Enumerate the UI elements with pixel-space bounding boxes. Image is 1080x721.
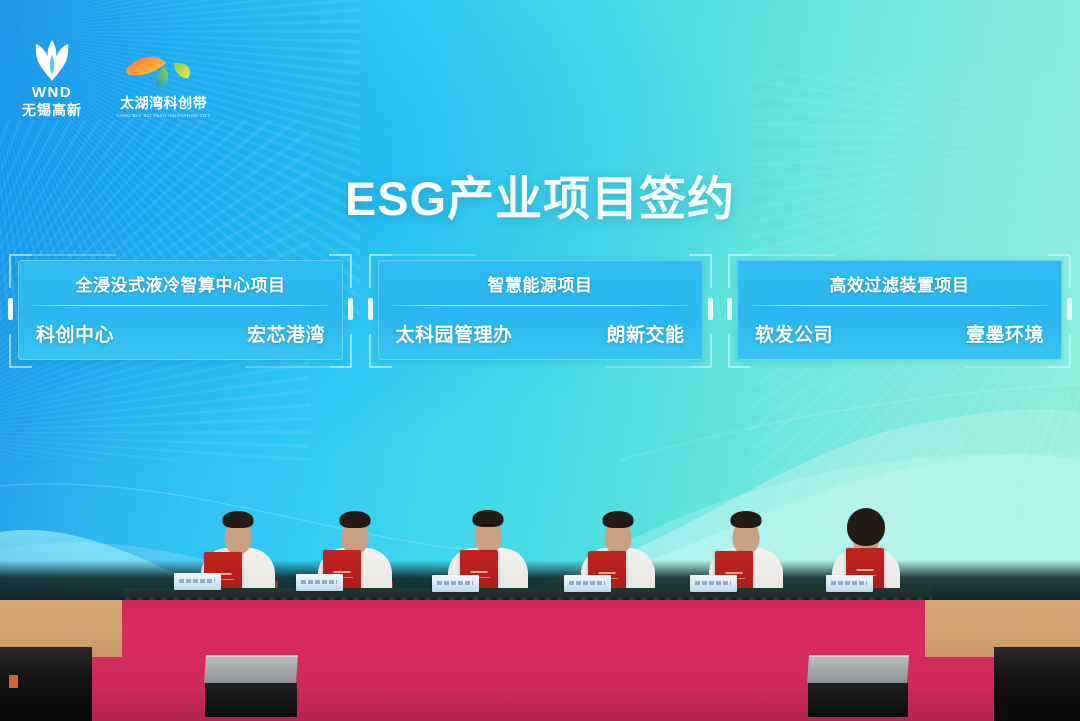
panel-3-parties: 软发公司 壹墨环境	[737, 306, 1062, 360]
stage-monitor-right	[808, 655, 908, 717]
panel-1-party-left: 科创中心	[36, 320, 114, 347]
name-placard-1	[174, 573, 221, 590]
panel-2-party-left: 太科园管理办	[396, 320, 513, 347]
name-placard-3	[432, 575, 479, 592]
panel-2-parties: 太科园管理办 朗新交能	[378, 306, 703, 360]
signing-ceremony-photo: WND 无锡高新	[0, 0, 1080, 721]
name-placard-5	[690, 575, 737, 592]
side-speaker-left	[0, 647, 92, 721]
panel-1-card: 全浸没式液冷智算中心项目 科创中心 宏芯港湾	[18, 260, 343, 360]
panel-1-party-right: 宏芯港湾	[247, 320, 325, 347]
event-title: ESG产业项目签约	[0, 160, 1080, 229]
panel-2-party-right: 朗新交能	[606, 320, 684, 347]
panel-1-title: 全浸没式液冷智算中心项目	[18, 260, 343, 296]
table-top	[122, 588, 932, 597]
panel-2-card: 智慧能源项目 太科园管理办 朗新交能	[378, 260, 703, 360]
logo-secondary-english: TAIHU BAY SCI-TECH INNOVATION CITY	[116, 113, 210, 118]
signing-panel-3: 高效过滤装置项目 软发公司 壹墨环境	[725, 252, 1074, 370]
speaker-grille	[807, 655, 909, 683]
speaker-grille	[204, 655, 298, 683]
hair-short	[223, 511, 254, 528]
name-placard-6	[826, 575, 873, 592]
hair-short	[731, 511, 762, 528]
name-placard-2	[296, 574, 343, 591]
logo-taihu-bay: 太湖湾科创带 TAIHU BAY SCI-TECH INNOVATION CIT…	[114, 51, 213, 118]
speaker-body	[808, 683, 908, 717]
led-backdrop-screen: WND 无锡高新	[0, 0, 1080, 600]
name-placard-4	[564, 575, 611, 592]
panel-3-title: 高效过滤装置项目	[737, 260, 1062, 296]
panel-1-parties: 科创中心 宏芯港湾	[18, 306, 343, 360]
signing-panel-1: 全浸没式液冷智算中心项目 科创中心 宏芯港湾	[6, 252, 355, 370]
lotus-mark-icon	[23, 38, 81, 83]
signing-panels-row: 全浸没式液冷智算中心项目 科创中心 宏芯港湾	[0, 252, 1080, 370]
panel-3-party-right: 壹墨环境	[966, 320, 1044, 347]
stage-monitor-left	[205, 655, 297, 717]
panel-3-party-left: 软发公司	[755, 320, 833, 347]
hair-short	[340, 511, 371, 528]
logo-bar: WND 无锡高新	[22, 38, 213, 118]
hair-short	[603, 511, 634, 528]
panel-2-title: 智慧能源项目	[378, 260, 703, 296]
panel-3-card: 高效过滤装置项目 软发公司 壹墨环境	[737, 260, 1062, 360]
speaker-body	[205, 683, 297, 717]
butterfly-mark-icon	[118, 51, 210, 91]
hair-long	[847, 508, 885, 546]
logo-secondary-chinese: 太湖湾科创带	[120, 93, 207, 113]
hair-short	[473, 510, 504, 527]
side-speaker-right	[994, 647, 1080, 721]
speaker-brand-logo	[9, 675, 18, 688]
logo-primary-chinese: 无锡高新	[22, 102, 82, 118]
signing-panel-2: 智慧能源项目 太科园管理办 朗新交能	[366, 252, 715, 370]
logo-wuxi-new-district: WND 无锡高新	[22, 38, 82, 118]
logo-primary-english: WND	[32, 85, 72, 102]
stage-carpet	[0, 600, 1080, 721]
